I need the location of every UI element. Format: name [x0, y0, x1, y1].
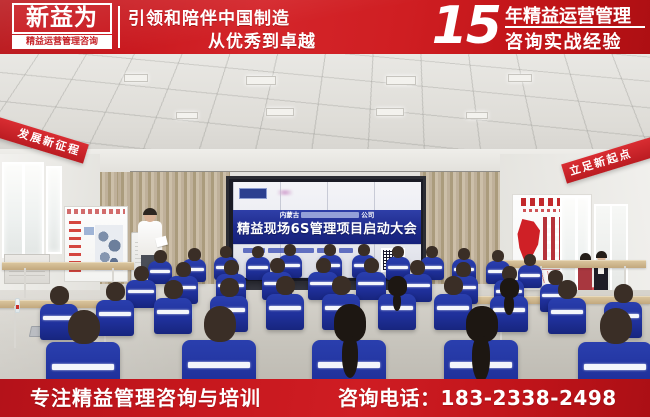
ceiling-light [508, 74, 532, 82]
brand-logo-name: 新益为 [12, 3, 112, 34]
poster-callout [84, 227, 94, 235]
attendee [46, 310, 120, 379]
attendee [266, 276, 304, 330]
slide-logo-icon [239, 188, 267, 199]
conference-table [2, 262, 134, 270]
slide-title-band: 内蒙古公司 精益现场6S管理项目启动大会 [233, 210, 421, 244]
slide-secondary-logo-icon [277, 190, 293, 195]
slide-subtitle-suffix: 公司 [361, 211, 374, 219]
ceiling-light [266, 108, 294, 116]
ceiling-light [386, 76, 416, 85]
attendee [444, 306, 518, 379]
ceiling-light [246, 76, 276, 85]
staff-hair [596, 251, 607, 258]
slogan-line-1: 引领和陪伴中国制造 [128, 4, 290, 29]
water-bottle [15, 298, 20, 313]
ceiling-light [376, 108, 404, 116]
conference-photo: 内蒙古公司 精益现场6S管理项目启动大会 [0, 54, 650, 379]
staff-hair [580, 253, 591, 260]
window [46, 166, 62, 254]
brand-logo[interactable]: 新益为 精益运营管理咨询 [12, 3, 112, 51]
slide-subtitle: 内蒙古公司 [233, 211, 421, 220]
years-number: 15 [418, 0, 500, 54]
footer-tagline: 专注精益管理咨询与培训 [30, 384, 261, 412]
header-slogan: 引领和陪伴中国制造 从优秀到卓越 [128, 3, 398, 51]
slide-title: 精益现场6S管理项目启动大会 [233, 220, 421, 240]
header-divider [118, 6, 120, 48]
attendee [578, 308, 650, 379]
footer-banner: 专注精益管理咨询与培训 咨询电话：183-2338-2498 [0, 379, 650, 417]
slide-subtitle-prefix: 内蒙古 [280, 211, 300, 219]
years-caption-line-1: 年精益运营管理 [505, 2, 631, 28]
wall-poster [64, 206, 128, 282]
poster-heading [67, 209, 125, 214]
brand-logo-tagline: 精益运营管理咨询 [12, 35, 112, 49]
screenshot-root: 新益为 精益运营管理咨询 引领和陪伴中国制造 从优秀到卓越 15 年精益运营管理… [0, 0, 650, 417]
attendee [312, 304, 386, 379]
footer-phone[interactable]: 咨询电话：183-2338-2498 [338, 384, 617, 412]
ceiling-light [466, 112, 488, 119]
window [2, 162, 44, 258]
ceiling-light [124, 74, 148, 82]
years-caption-line-2: 咨询实战经验 [505, 28, 622, 54]
presenter-hair [143, 208, 157, 215]
header-banner: 新益为 精益运营管理咨询 引领和陪伴中国制造 从优秀到卓越 15 年精益运营管理… [0, 0, 650, 54]
slogan-line-2: 从优秀到卓越 [208, 27, 316, 52]
attendee [182, 306, 256, 379]
years-caption: 年精益运营管理 咨询实战经验 [505, 2, 645, 52]
ceiling-light [176, 112, 198, 119]
slide-subtitle-redaction [301, 212, 359, 218]
